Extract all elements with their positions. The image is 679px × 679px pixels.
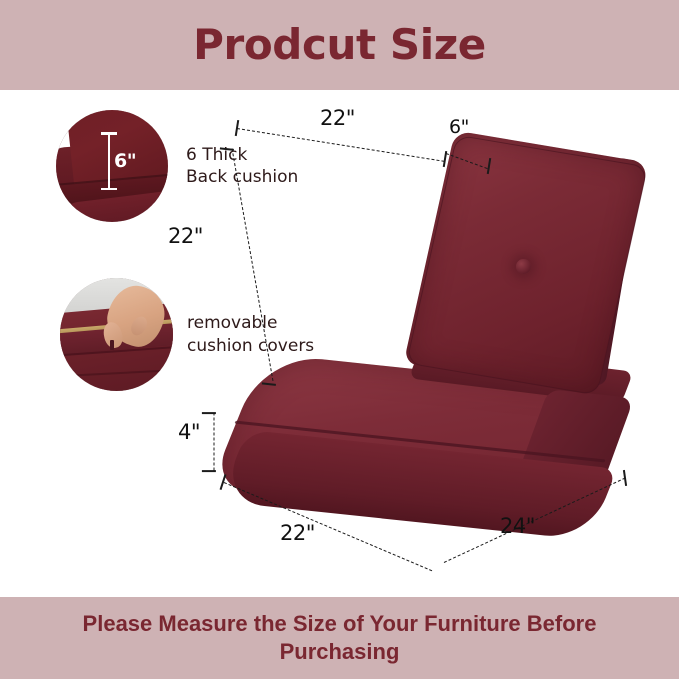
footer-message: Please Measure the Size of Your Furnitur… [47,610,633,666]
page-title: Prodcut Size [193,24,486,66]
thickness-measure-bar-icon [108,132,110,190]
dim-label-seat-depth: 22" [280,521,315,545]
product-illustration: 22" 6" 22" 4" 22" 24" [200,96,670,576]
footer-banner: Please Measure the Size of Your Furnitur… [0,597,679,679]
footer-line-1: Please Measure the Size of Your Furnitur… [83,610,597,638]
zipper-hand-photo-icon [60,278,173,391]
dim-line-back-width [237,128,445,162]
dim-label-back-height: 22" [168,224,203,248]
dim-label-back-thickness: 6" [449,116,469,138]
dim-tick [220,147,234,150]
dim-tick [623,470,627,486]
header-banner: Prodcut Size [0,0,679,90]
dim-label-seat-width: 24" [500,514,535,538]
dim-tick [202,470,216,472]
dim-line-seat-thickness [214,413,215,471]
product-size-infographic: Prodcut Size 6" 6 Thick Back cushion [0,0,679,679]
cushion-thickness-photo-icon: 6" [56,110,168,222]
zipper-pull-icon [110,340,114,350]
tufted-button [516,259,531,274]
dim-line-back-height [232,148,274,381]
dim-tick [202,412,216,414]
thickness-badge-label: 6" [114,150,136,172]
footer-line-2: Purchasing [83,638,597,666]
dim-label-back-width: 22" [320,106,355,130]
dim-label-seat-thickness: 4" [178,420,200,444]
